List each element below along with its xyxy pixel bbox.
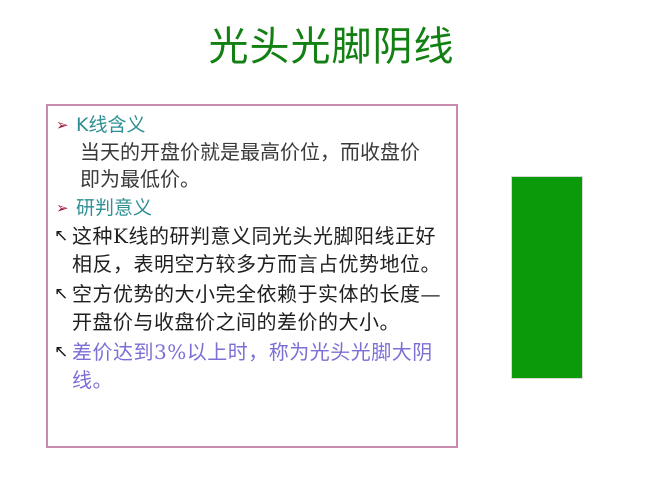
list-item: ↖ 空方优势的大小完全依赖于实体的长度—开盘价与收盘价之间的差价的大小。 — [54, 280, 446, 336]
list-item-text: 差价达到3%以上时，称为光头光脚大阴线。 — [72, 338, 446, 394]
northwest-arrow-icon: ↖ — [54, 338, 72, 366]
section-heading-label: 研判意义 — [76, 195, 446, 221]
section-heading-k-line-meaning: ➢ K线含义 — [54, 112, 446, 138]
arrow-bullet-icon: ➢ — [54, 112, 76, 138]
list-item-text: 空方优势的大小完全依赖于实体的长度—开盘价与收盘价之间的差价的大小。 — [72, 280, 446, 336]
section-body-k-line-meaning: 当天的开盘价就是最高价位，而收盘价即为最低价。 — [80, 139, 438, 193]
list-item: ↖ 差价达到3%以上时，称为光头光脚大阴线。 — [54, 338, 446, 394]
section-heading-judgement-meaning: ➢ 研判意义 — [54, 195, 446, 221]
list-item: ↖ 这种K线的研判意义同光头光脚阳线正好相反，表明空方较多方而言占优势地位。 — [54, 222, 446, 278]
content-box: ➢ K线含义 当天的开盘价就是最高价位，而收盘价即为最低价。 ➢ 研判意义 ↖ … — [46, 104, 458, 448]
bearish-candle-body-shape — [511, 176, 583, 379]
page-title: 光头光脚阴线 — [0, 22, 663, 72]
list-item-text: 这种K线的研判意义同光头光脚阳线正好相反，表明空方较多方而言占优势地位。 — [72, 222, 446, 278]
section-heading-label: K线含义 — [76, 112, 446, 138]
northwest-arrow-icon: ↖ — [54, 280, 72, 308]
northwest-arrow-icon: ↖ — [54, 222, 72, 250]
arrow-bullet-icon: ➢ — [54, 195, 76, 221]
